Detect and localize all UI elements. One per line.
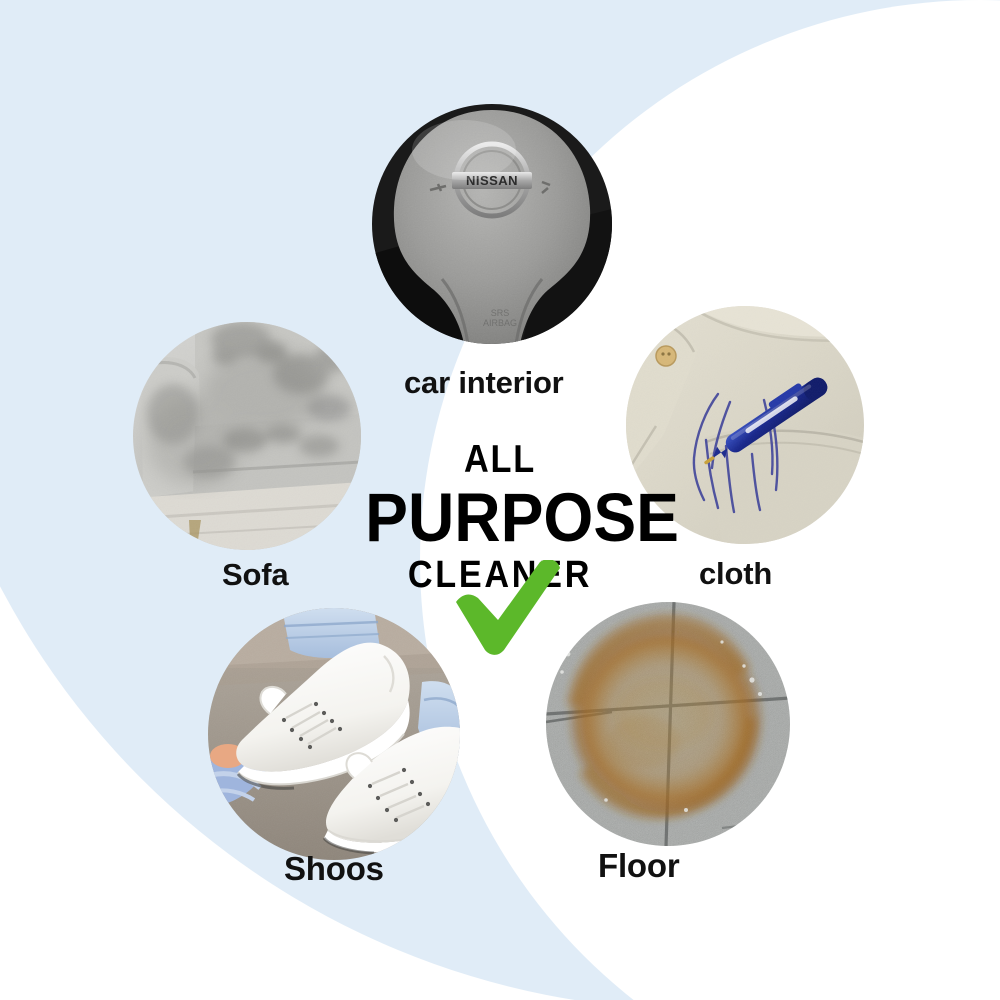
tile-shoes	[208, 608, 460, 860]
svg-text:AIRBAG: AIRBAG	[483, 318, 517, 328]
caption-cloth: cloth	[699, 556, 772, 592]
product-infographic-poster: NISSAN SRS AIRBAG car interior	[0, 0, 1000, 1000]
caption-shoes: Shoos	[284, 850, 384, 888]
green-check-icon	[448, 560, 563, 655]
caption-car-interior: car interior	[404, 365, 564, 401]
headline-line-all: ALL	[372, 440, 627, 479]
caption-sofa: Sofa	[222, 557, 288, 593]
tile-sofa	[133, 322, 361, 550]
svg-text:SRS: SRS	[491, 308, 510, 318]
caption-floor: Floor	[598, 847, 679, 885]
tile-floor	[546, 602, 790, 846]
headline-line-purpose: PURPOSE	[365, 483, 635, 552]
tile-car-interior: NISSAN SRS AIRBAG	[372, 104, 612, 344]
